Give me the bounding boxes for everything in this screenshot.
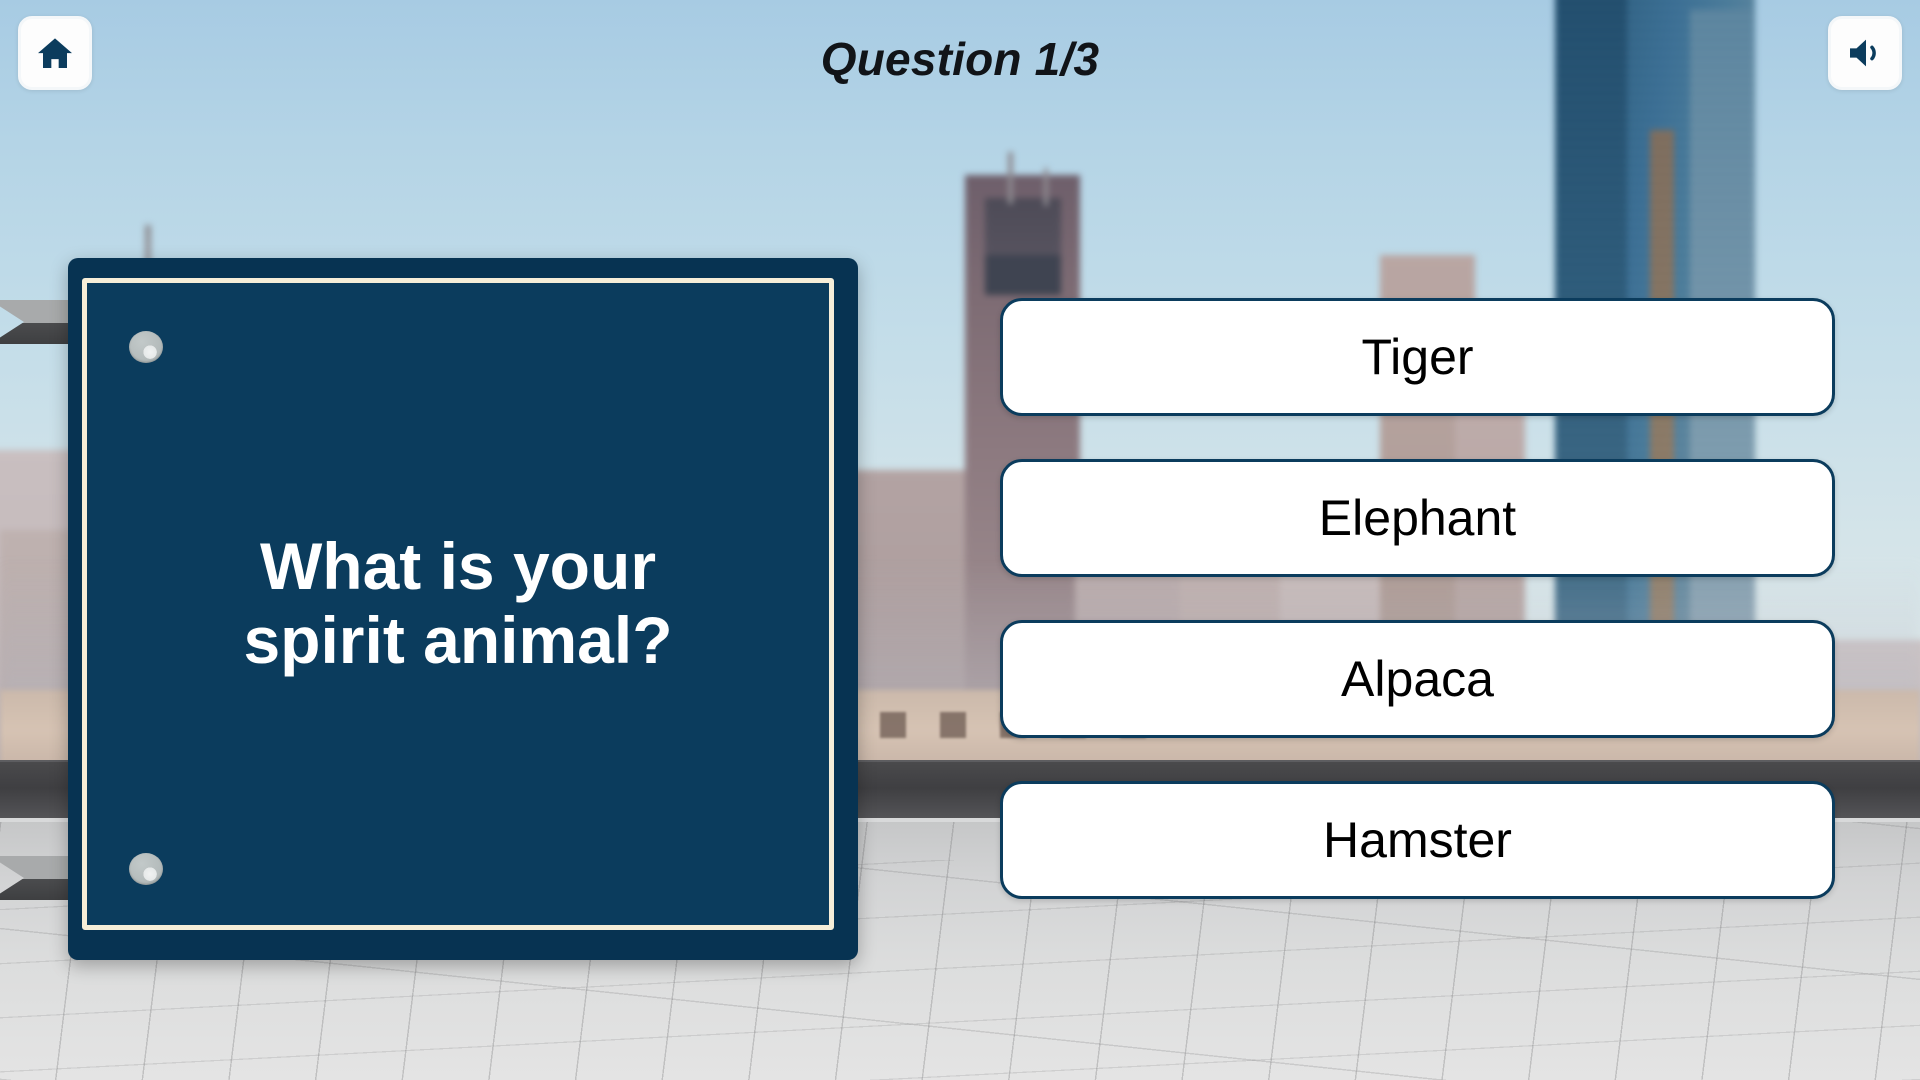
question-counter: Question 1/3 bbox=[0, 32, 1920, 86]
question-text: What is your spirit animal? bbox=[178, 530, 738, 678]
answer-option-2[interactable]: Elephant bbox=[1000, 459, 1835, 577]
answer-option-4[interactable]: Hamster bbox=[1000, 781, 1835, 899]
question-card: What is your spirit animal? bbox=[68, 258, 858, 960]
answer-option-1-label: Tiger bbox=[1361, 328, 1473, 386]
answer-options-list: Tiger Elephant Alpaca Hamster bbox=[1000, 298, 1835, 899]
quiz-screen: Question 1/3 What is your spirit animal?… bbox=[0, 0, 1920, 1080]
question-card-inner-frame: What is your spirit animal? bbox=[82, 278, 834, 930]
answer-option-2-label: Elephant bbox=[1319, 489, 1516, 547]
answer-option-3-label: Alpaca bbox=[1341, 650, 1494, 708]
rivet-bottom-icon bbox=[129, 853, 163, 885]
rivet-top-icon bbox=[129, 331, 163, 363]
answer-option-3[interactable]: Alpaca bbox=[1000, 620, 1835, 738]
answer-option-1[interactable]: Tiger bbox=[1000, 298, 1835, 416]
answer-option-4-label: Hamster bbox=[1323, 811, 1512, 869]
